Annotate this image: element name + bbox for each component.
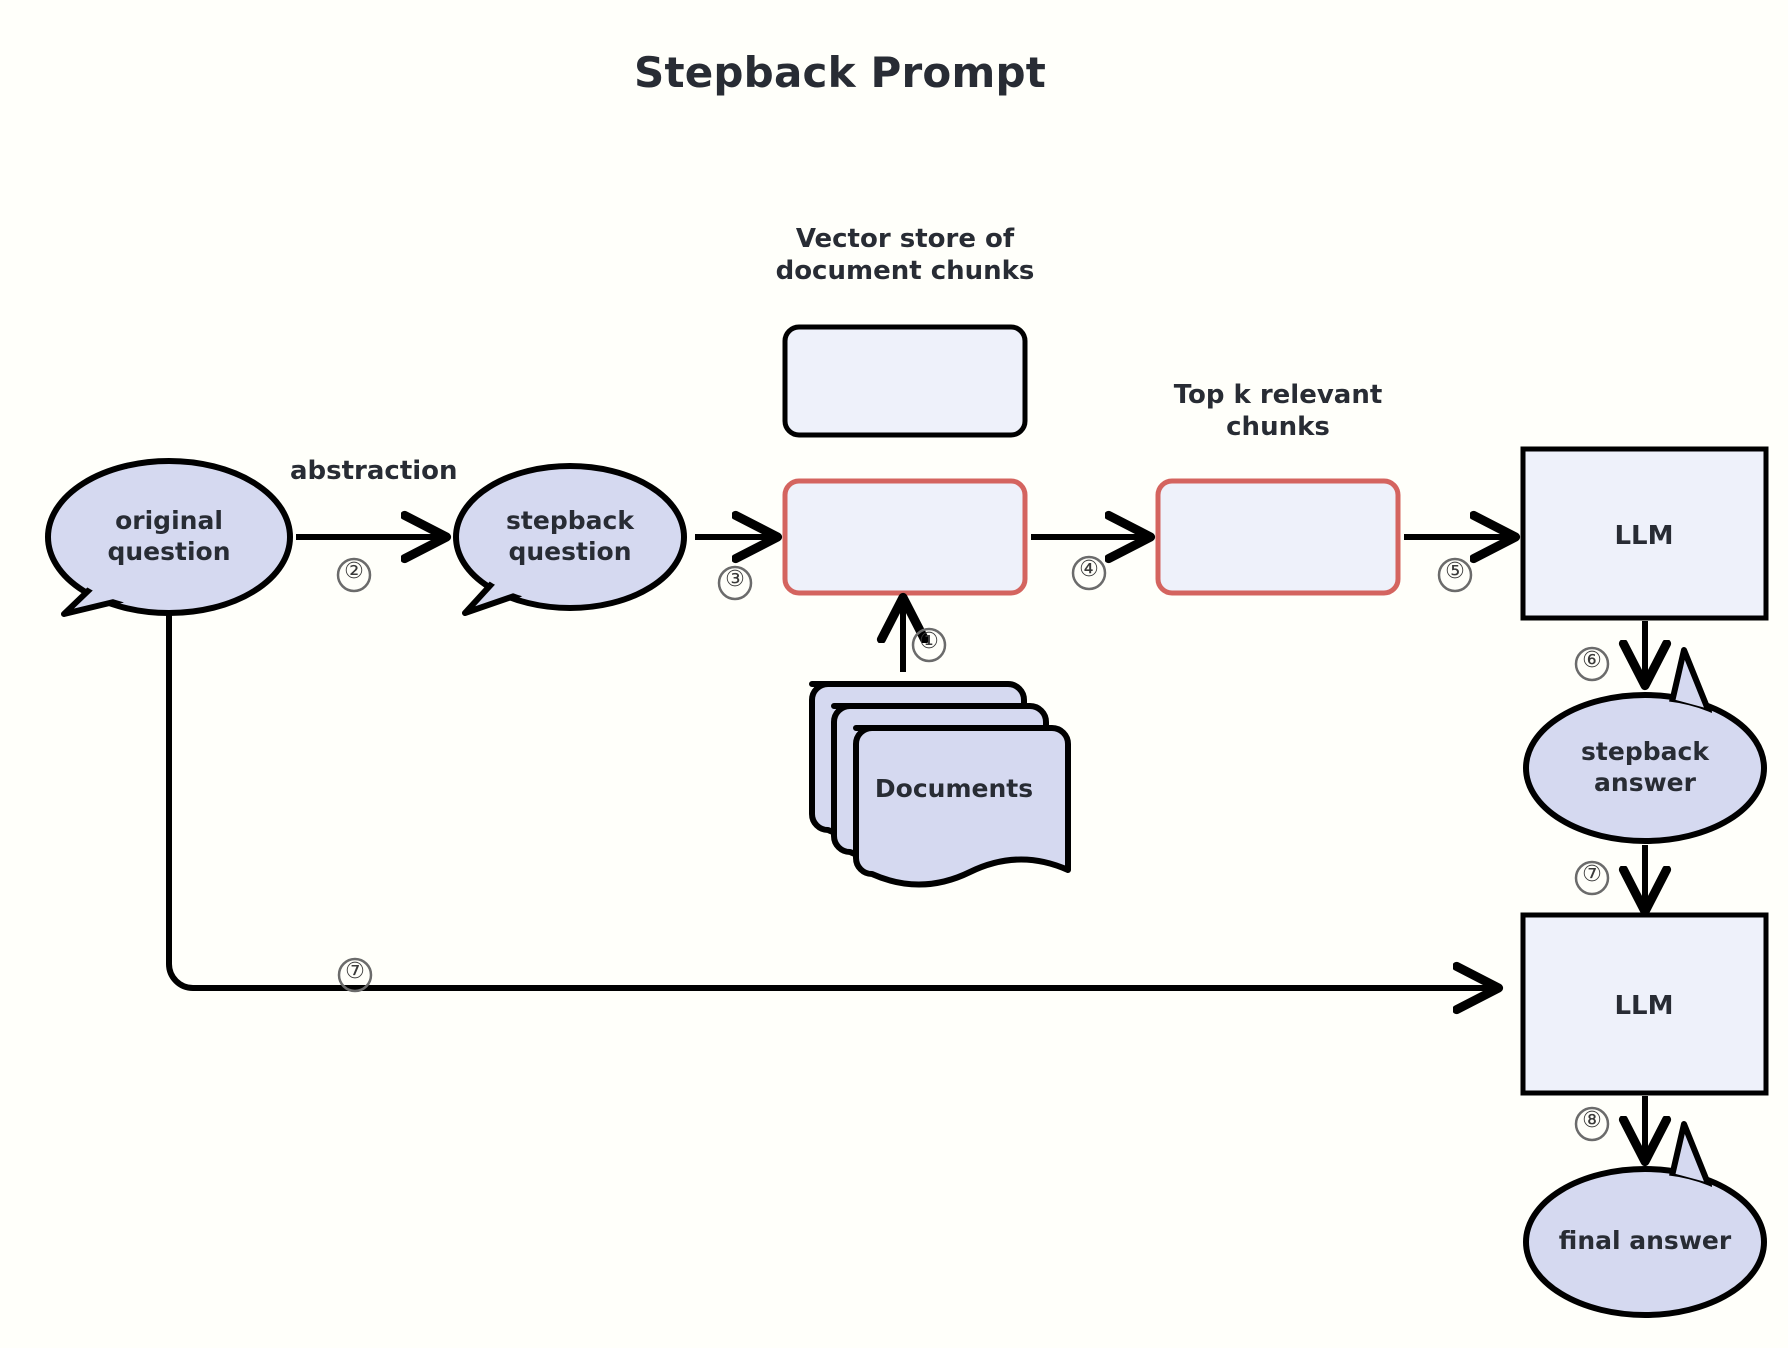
page-title: Stepback Prompt xyxy=(0,48,1680,97)
diagram-canvas: Stepback Prompt abstraction Vector store… xyxy=(0,0,1788,1348)
label-stepback-answer: stepback answer xyxy=(1545,737,1745,798)
label-documents: Documents xyxy=(854,774,1054,805)
caption-vector-store: Vector store of document chunks xyxy=(765,224,1045,287)
step-marker-stepback-out: ⑥ xyxy=(1572,648,1612,673)
vector-store-box[interactable] xyxy=(785,327,1025,435)
final-answer-bubble[interactable] xyxy=(1526,1124,1764,1315)
step-marker-stepback-to-llm: ⑦ xyxy=(1572,862,1612,887)
diagram-graphics xyxy=(0,0,1788,1348)
caption-top-k-chunks: Top k relevant chunks xyxy=(1138,380,1418,443)
step-marker-retrieve: ③ xyxy=(715,567,755,592)
label-stepback-question: stepback question xyxy=(470,506,670,567)
caption-abstraction: abstraction xyxy=(290,456,450,488)
step-marker-rank: ④ xyxy=(1069,557,1109,582)
label-llm-bottom: LLM xyxy=(1544,991,1744,1023)
label-final-answer: final answer xyxy=(1535,1226,1755,1257)
vector-search-box[interactable] xyxy=(785,481,1025,593)
step-marker-to-llm: ⑤ xyxy=(1435,559,1475,584)
step-marker-final-out: ⑧ xyxy=(1572,1108,1612,1133)
step-marker-abstraction: ② xyxy=(334,559,374,584)
label-original-question: original question xyxy=(69,506,269,567)
top-k-chunks-box[interactable] xyxy=(1158,481,1398,593)
step-marker-ingest: ① xyxy=(909,629,949,654)
label-llm-top: LLM xyxy=(1544,521,1744,553)
step-marker-original-to-final-llm: ⑦ xyxy=(335,959,375,984)
